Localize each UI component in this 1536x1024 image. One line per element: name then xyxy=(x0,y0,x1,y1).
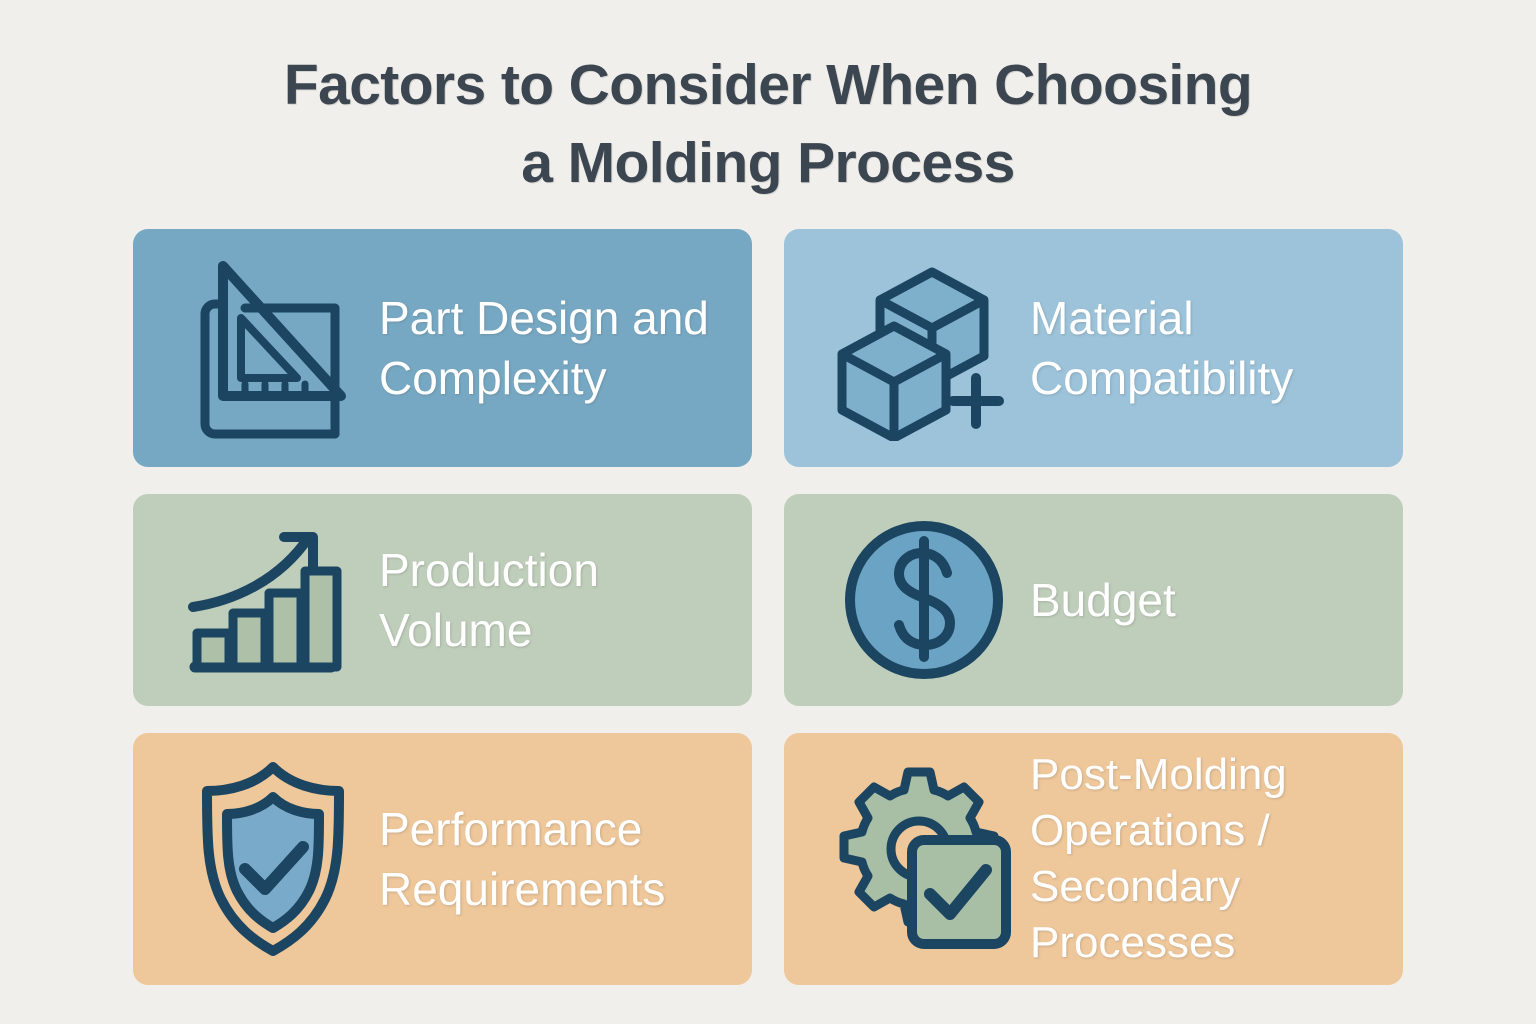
dollar-coin-icon xyxy=(824,515,1024,685)
card-performance-requirements[interactable]: Performance Requirements xyxy=(133,733,752,985)
card-part-design-and-complexity[interactable]: Part Design and Complexity xyxy=(133,229,752,467)
cubes-plus-icon xyxy=(824,256,1024,441)
card-post-molding-operations[interactable]: Post-Molding Operations / Secondary Proc… xyxy=(784,733,1403,985)
infographic-page: Factors to Consider When Choosing a Mold… xyxy=(0,0,1536,1024)
gear-checkbox-icon xyxy=(824,762,1024,957)
card-label: Performance Requirements xyxy=(373,799,734,919)
ruler-set-square-icon xyxy=(173,256,373,441)
growth-bar-chart-icon xyxy=(173,515,373,685)
shield-check-icon xyxy=(173,759,373,959)
card-label: Production Volume xyxy=(373,540,734,660)
card-label: Part Design and Complexity xyxy=(373,288,734,408)
card-material-compatibility[interactable]: Material Compatibility xyxy=(784,229,1403,467)
page-title: Factors to Consider When Choosing a Mold… xyxy=(133,46,1403,202)
card-label: Budget xyxy=(1024,570,1385,630)
card-label: Post-Molding Operations / Secondary Proc… xyxy=(1024,747,1385,971)
factor-card-grid: Part Design and Complexity xyxy=(133,229,1403,985)
card-production-volume[interactable]: Production Volume xyxy=(133,494,752,706)
card-budget[interactable]: Budget xyxy=(784,494,1403,706)
card-label: Material Compatibility xyxy=(1024,288,1385,408)
